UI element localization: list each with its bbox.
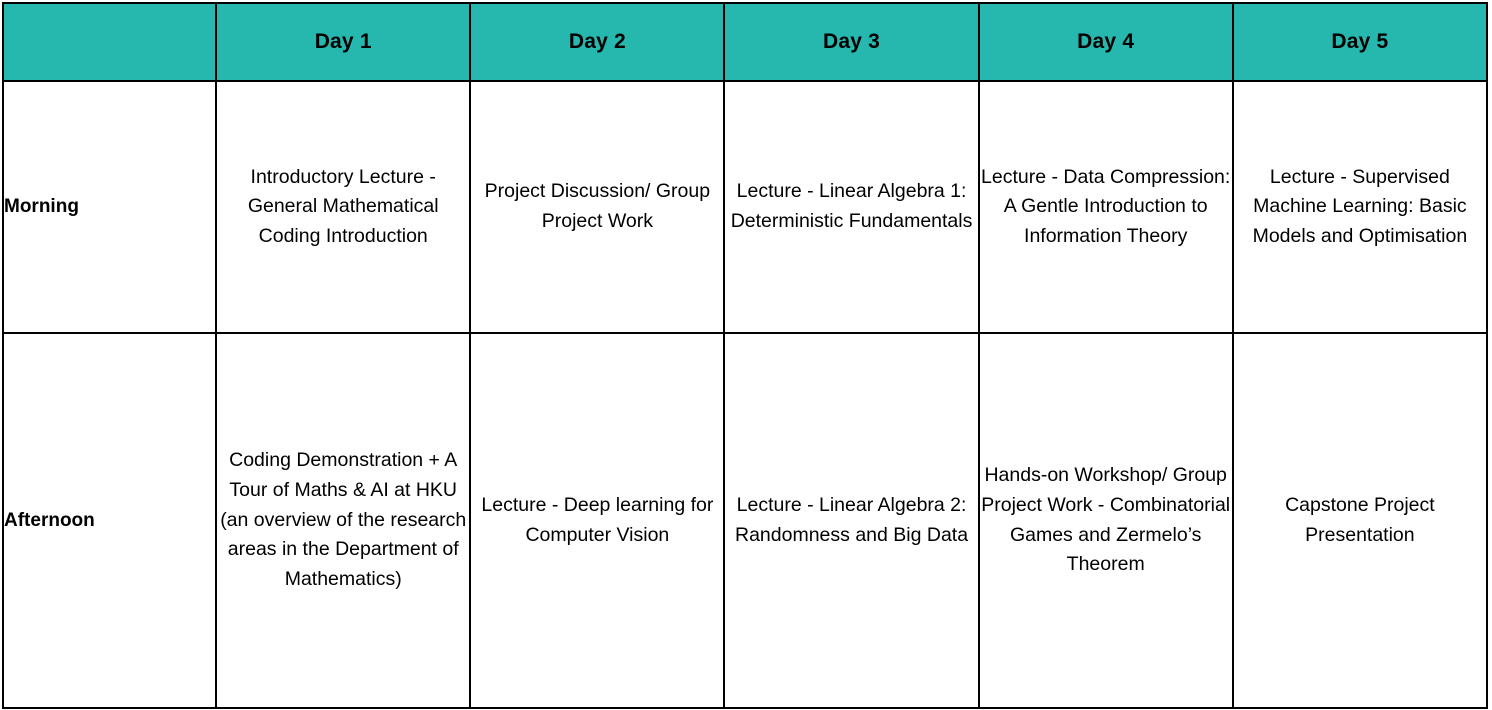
- session-morning-day-1: Introductory Lecture - General Mathemati…: [216, 81, 470, 333]
- column-header-day-4: Day 4: [979, 3, 1233, 81]
- session-morning-day-2: Project Discussion/ Group Project Work: [470, 81, 724, 333]
- table-row-morning: Morning Introductory Lecture - General M…: [3, 81, 1487, 333]
- weekly-schedule-table: Day 1 Day 2 Day 3 Day 4 Day 5 Morning In…: [2, 2, 1488, 709]
- schedule-table-container: Day 1 Day 2 Day 3 Day 4 Day 5 Morning In…: [0, 0, 1492, 710]
- session-afternoon-day-3: Lecture - Linear Algebra 2: Randomness a…: [724, 333, 978, 708]
- column-header-day-2: Day 2: [470, 3, 724, 81]
- column-header-day-1: Day 1: [216, 3, 470, 81]
- session-afternoon-day-4: Hands-on Workshop/ Group Project Work - …: [979, 333, 1233, 708]
- column-header-day-5: Day 5: [1233, 3, 1487, 81]
- session-morning-day-5: Lecture - Supervised Machine Learning: B…: [1233, 81, 1487, 333]
- table-row-afternoon: Afternoon Coding Demonstration + A Tour …: [3, 333, 1487, 708]
- session-afternoon-day-5: Capstone Project Presentation: [1233, 333, 1487, 708]
- session-afternoon-day-1: Coding Demonstration + A Tour of Maths &…: [216, 333, 470, 708]
- corner-cell: [3, 3, 216, 81]
- session-morning-day-4: Lecture - Data Compression: A Gentle Int…: [979, 81, 1233, 333]
- session-afternoon-day-2: Lecture - Deep learning for Computer Vis…: [470, 333, 724, 708]
- session-morning-day-3: Lecture - Linear Algebra 1: Deterministi…: [724, 81, 978, 333]
- row-label-morning: Morning: [3, 81, 216, 333]
- row-label-afternoon: Afternoon: [3, 333, 216, 708]
- column-header-day-3: Day 3: [724, 3, 978, 81]
- table-header-row: Day 1 Day 2 Day 3 Day 4 Day 5: [3, 3, 1487, 81]
